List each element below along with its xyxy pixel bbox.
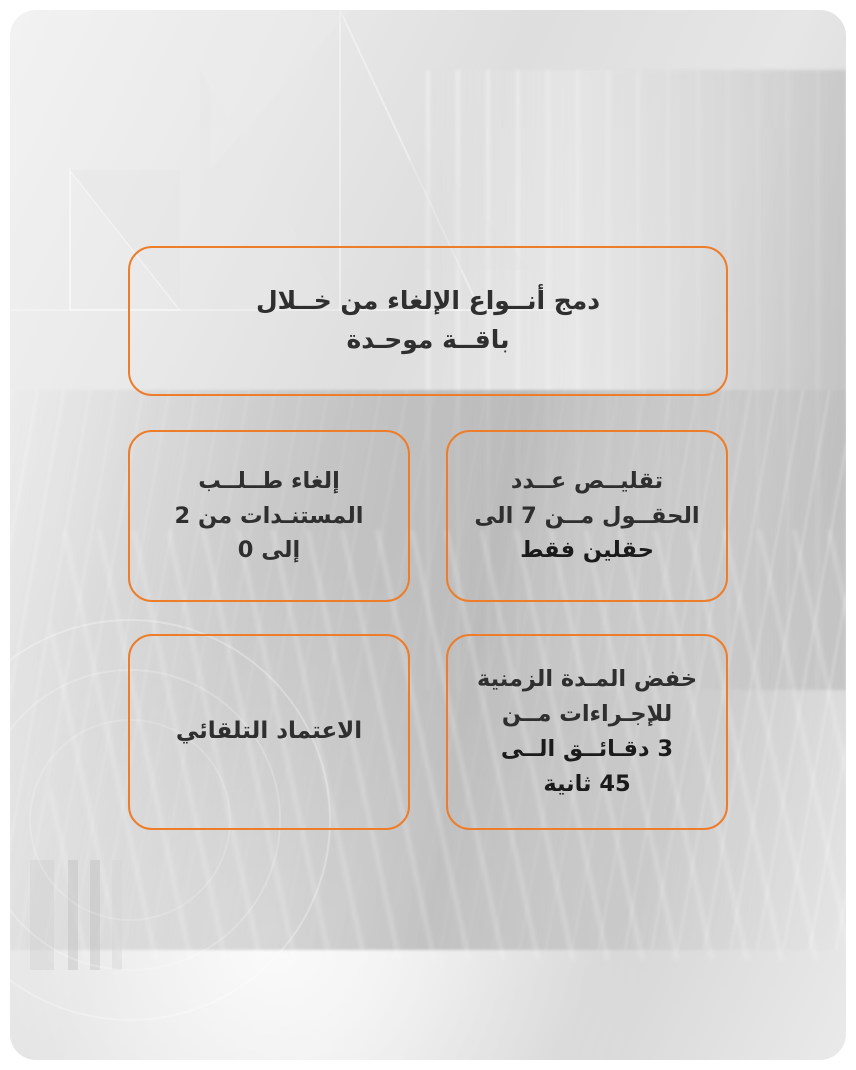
fields-reduction-line3: حقلين فقط (520, 537, 654, 563)
fields-reduction-line2: الحقــول مــن 7 الى (474, 503, 699, 529)
auto-approval-line1: الاعتماد التلقائي (176, 718, 362, 744)
time-reduction-line4: 45 ثانية (543, 771, 630, 797)
unified-package-line2: باقــة موحـدة (346, 325, 509, 354)
fields-reduction-line1: تقليــص عــدد (511, 468, 663, 494)
time-reduction-line1: خفض المـدة الزمنية (477, 666, 697, 692)
card-documents-reduction: إلغاء طــلــب المستنـدات من 2 إلى 0 (128, 430, 410, 602)
card-unified-package: دمج أنــواع الإلغاء من خــلال باقــة موح… (128, 246, 728, 396)
documents-reduction-line2: المستنـدات من 2 (174, 503, 363, 529)
poster-canvas: دمج أنــواع الإلغاء من خــلال باقــة موح… (0, 0, 856, 1070)
unified-package-line1: دمج أنــواع الإلغاء من خــلال (256, 286, 600, 315)
card-time-reduction: خفض المـدة الزمنية للإجـراءات مــن 3 دقـ… (446, 634, 728, 830)
card-auto-approval: الاعتماد التلقائي (128, 634, 410, 830)
documents-reduction-line1: إلغاء طــلــب (198, 468, 340, 494)
card-fields-reduction: تقليــص عــدد الحقــول مــن 7 الى حقلين … (446, 430, 728, 602)
cards-layer: دمج أنــواع الإلغاء من خــلال باقــة موح… (0, 0, 856, 1070)
time-reduction-line3: 3 دقـائــق الــى (501, 736, 673, 762)
documents-reduction-line3: إلى 0 (238, 537, 300, 563)
time-reduction-line2: للإجـراءات مــن (502, 701, 672, 727)
